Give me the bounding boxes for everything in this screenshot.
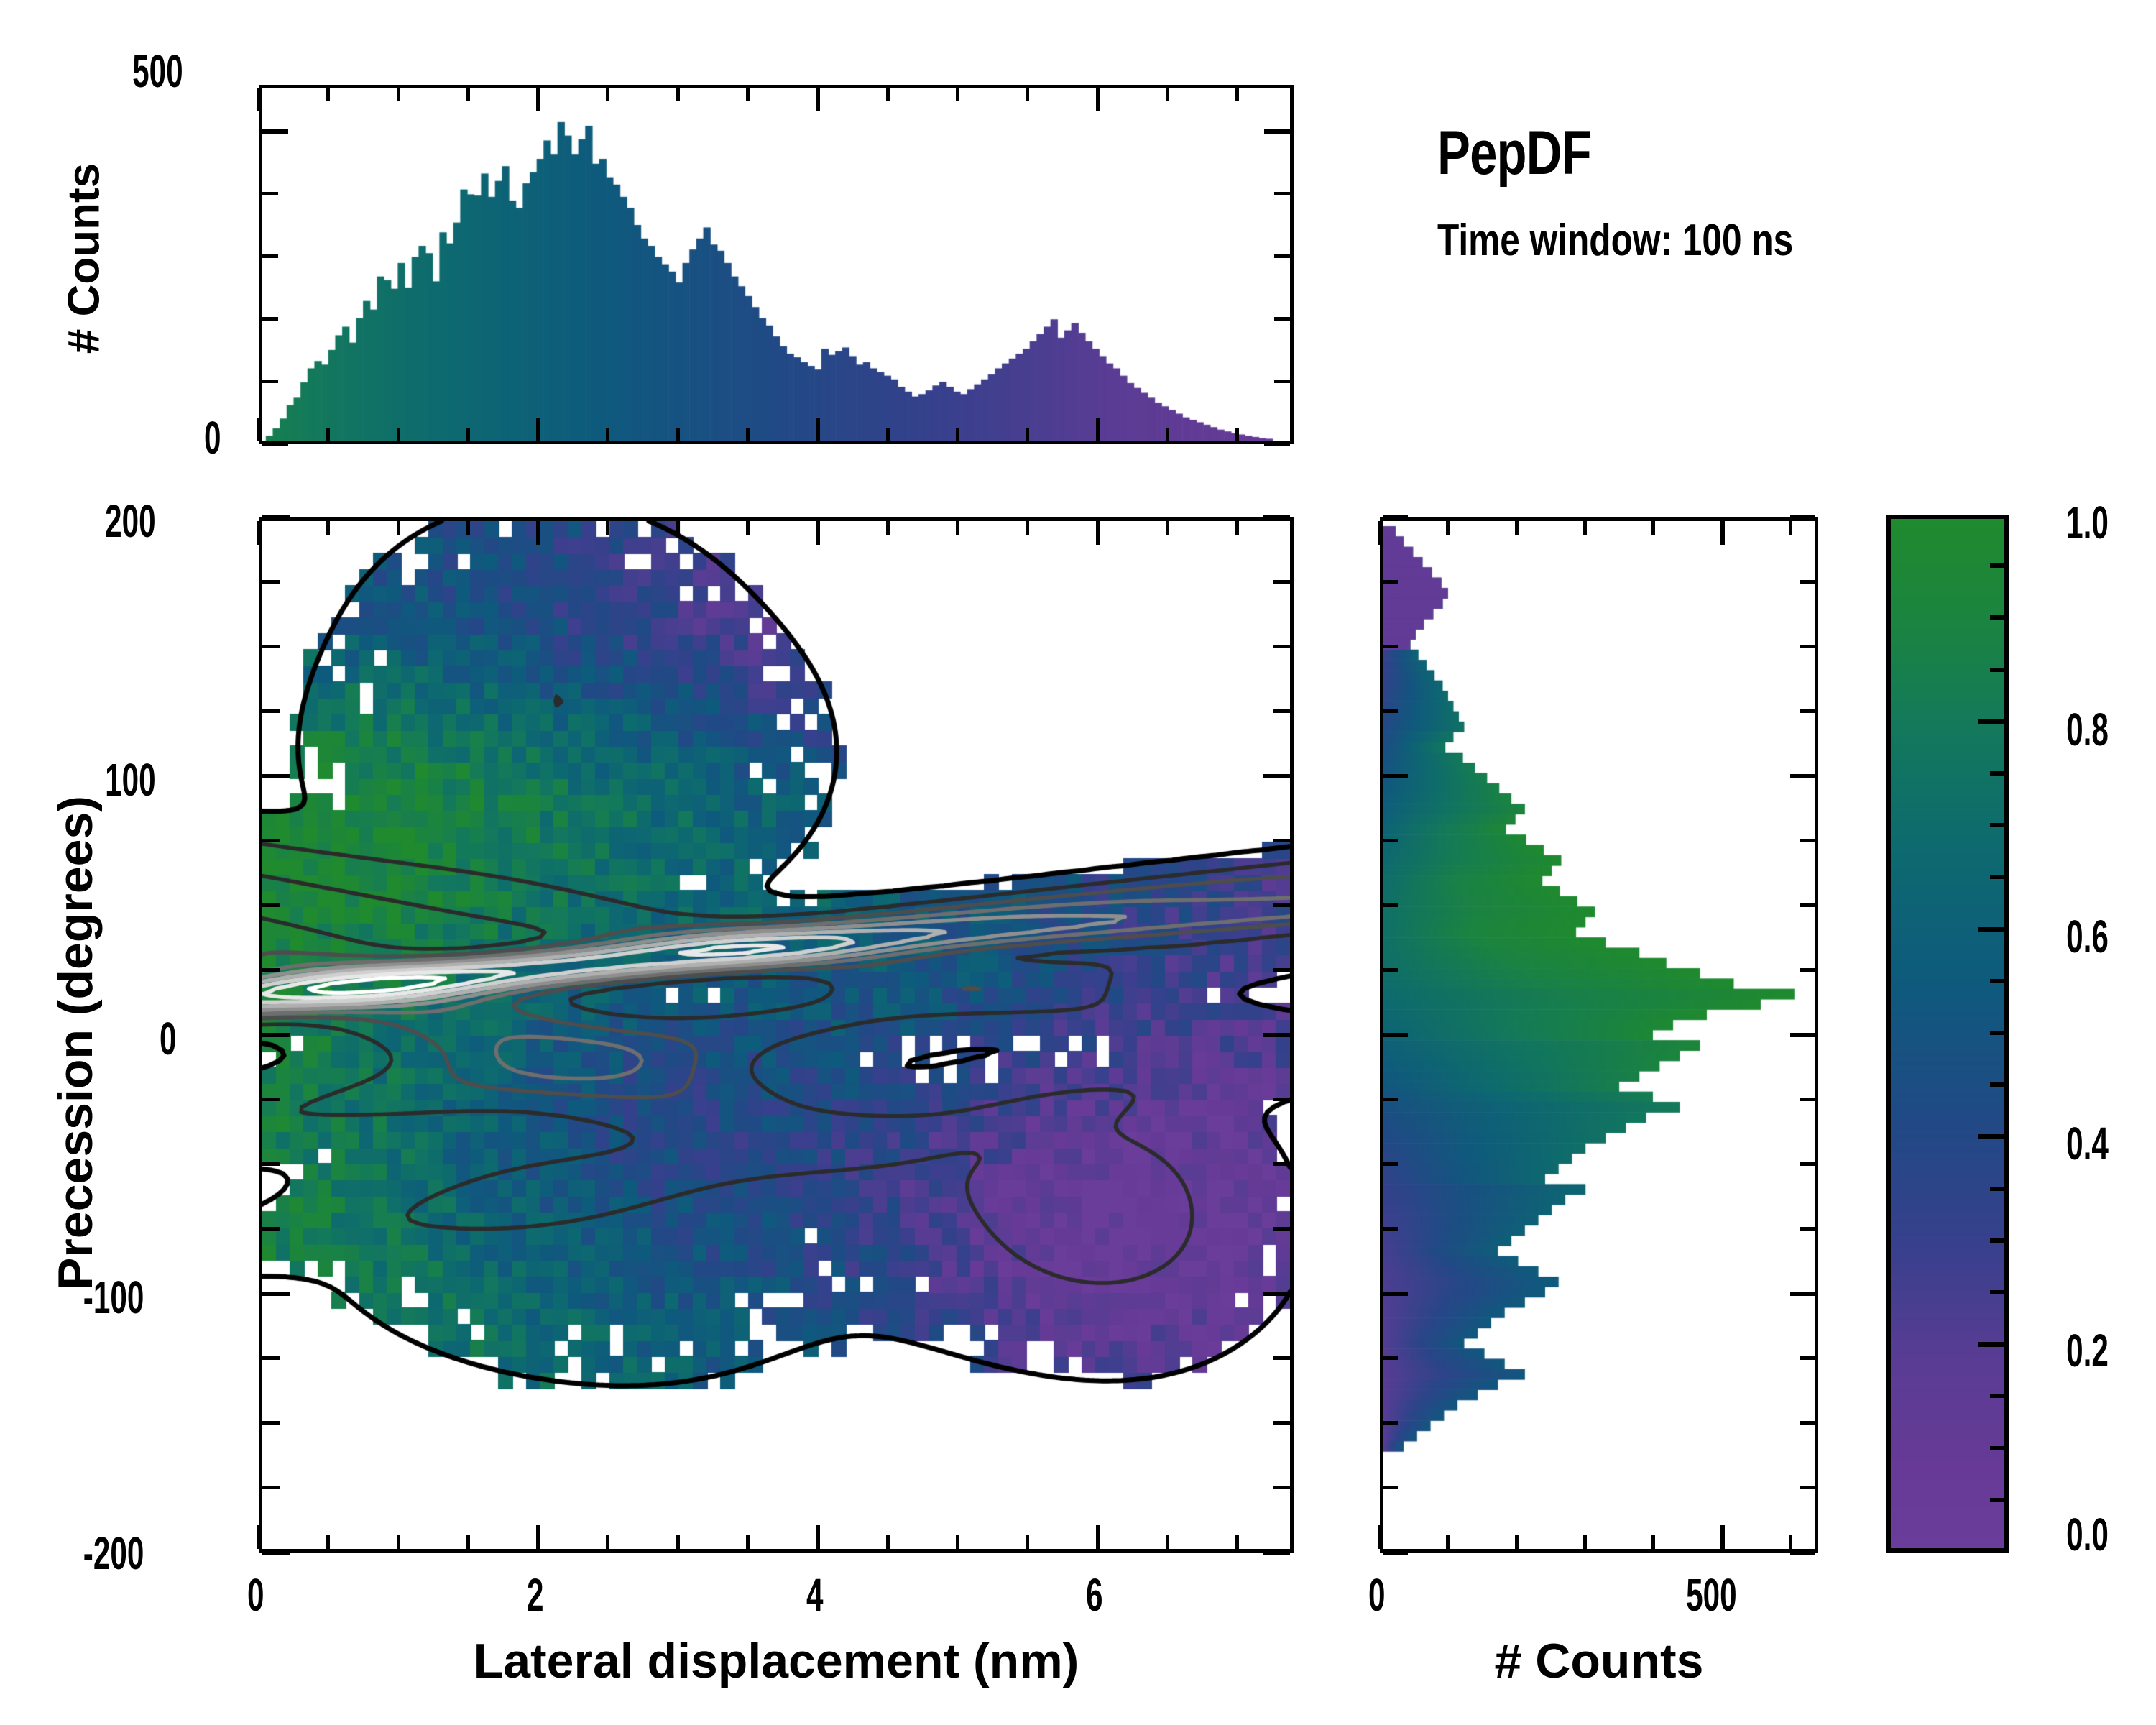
main-ytick-major-right	[1263, 515, 1290, 520]
top-yaxis-title: # Counts	[59, 90, 110, 428]
top-histogram-canvas	[262, 88, 1290, 441]
right-ytick-major	[1383, 515, 1408, 520]
main-ytick-minor-right	[1273, 1356, 1290, 1360]
right-ytick-minor	[1383, 1162, 1398, 1166]
colorbar-tick-minor	[1990, 875, 2009, 879]
main-ytick-minor-right	[1273, 1162, 1290, 1166]
main-ytick-minor	[262, 1486, 280, 1489]
top-panel-ytick-major-right	[1264, 442, 1290, 446]
main-ytick-major	[262, 515, 290, 520]
colorbar-tick-major	[1978, 1342, 2009, 1347]
right-ytick-minor	[1383, 839, 1398, 842]
colorbar-tick-minor	[1990, 1082, 2009, 1087]
xtick-label-0: 0	[247, 1568, 264, 1621]
colorbar-tick-minor	[1990, 1446, 2009, 1450]
top-panel-ytick-major	[262, 442, 288, 446]
colorbar-tick-minor	[1990, 563, 2009, 568]
main-ytick-major-right	[1263, 1550, 1290, 1555]
main-ytick-minor	[262, 1421, 280, 1425]
top-panel-xtick-minor-upper	[956, 88, 959, 101]
colorbar-tick-minor	[1990, 668, 2009, 672]
main-xtick-minor-top	[1235, 521, 1239, 535]
main-ytick-minor-right	[1273, 839, 1290, 842]
right-ytick-major	[1383, 1550, 1408, 1555]
main-ytick-minor-right	[1273, 1421, 1290, 1425]
right-xtick-major-top	[1378, 521, 1382, 545]
top-panel-xtick-minor	[466, 428, 470, 441]
right-histogram-canvas	[1383, 521, 1815, 1549]
main-xtick-minor	[606, 1535, 609, 1549]
right-ytick-minor-right	[1800, 1098, 1815, 1101]
top-panel-xtick-minor	[956, 428, 959, 441]
right-ytick-minor	[1383, 580, 1398, 584]
main-xtick-minor-top	[326, 521, 330, 535]
right-ytick-minor	[1383, 1421, 1398, 1425]
ytick-label-200: 200	[105, 494, 155, 548]
right-ytick-major-right	[1790, 774, 1815, 778]
right-ytick-minor-right	[1800, 709, 1815, 713]
cbar-label-0p4: 0.4	[2066, 1117, 2109, 1170]
right-ytick-minor	[1383, 903, 1398, 907]
main-ytick-minor-right	[1273, 968, 1290, 972]
colorbar-tick-minor	[1990, 979, 2009, 983]
main-xtick-major	[816, 1525, 820, 1549]
top-panel-xtick-minor	[746, 428, 750, 441]
top-panel-xtick-minor-upper	[466, 88, 470, 101]
right-ytick-minor-right	[1800, 903, 1815, 907]
right-xtick-minor	[1583, 1535, 1587, 1549]
top-panel-ytick-minor-right	[1274, 254, 1290, 258]
right-xtick-minor-top	[1583, 521, 1587, 535]
main-xtick-minor	[1026, 1535, 1029, 1549]
top-panel-xtick-minor-upper	[1026, 88, 1029, 101]
yaxis-title: Precession (degrees)	[47, 525, 103, 1560]
main-ytick-minor	[262, 903, 280, 907]
right-ytick-minor	[1383, 1227, 1398, 1230]
right-xtick-major	[1720, 1525, 1725, 1549]
main-xtick-minor-top	[466, 521, 470, 535]
top-panel-xtick-minor	[606, 428, 609, 441]
main-xtick-minor-top	[956, 521, 959, 535]
right-ytick-minor-right	[1800, 968, 1815, 972]
main-ytick-major	[262, 1292, 290, 1296]
right-marginal-histogram-panel	[1380, 517, 1818, 1552]
main-xtick-major	[1096, 1525, 1100, 1549]
figure-canvas: 500 0 # Counts PepDF Time window: 100 ns…	[0, 0, 2156, 1725]
top-panel-xtick-major	[1096, 418, 1100, 441]
top-panel-ytick-minor	[262, 379, 278, 383]
colorbar-tick-minor	[1990, 1290, 2009, 1294]
right-ytick-minor-right	[1800, 1227, 1815, 1230]
right-xtick-minor	[1446, 1535, 1450, 1549]
main-xtick-minor-top	[1026, 521, 1029, 535]
right-ytick-major	[1383, 1292, 1408, 1296]
right-ytick-minor-right	[1800, 1486, 1815, 1489]
top-panel-xtick-major	[816, 418, 820, 441]
top-panel-xtick-minor	[676, 428, 680, 441]
main-ytick-major-right	[1263, 1292, 1290, 1296]
top-ytick-label-0: 0	[204, 411, 221, 464]
right-ytick-minor-right	[1800, 839, 1815, 842]
top-panel-ytick-minor-right	[1274, 317, 1290, 321]
main-xtick-minor-top	[886, 521, 890, 535]
right-xtick-major-top	[1720, 521, 1725, 545]
main-ytick-minor-right	[1273, 709, 1290, 713]
right-xtick-label-500: 500	[1686, 1568, 1736, 1621]
main-xtick-major	[536, 1525, 540, 1549]
main-ytick-minor	[262, 1162, 280, 1166]
right-xtick-minor-top	[1515, 521, 1519, 535]
top-panel-xtick-minor-upper	[1235, 88, 1239, 101]
main-ytick-minor-right	[1273, 1227, 1290, 1230]
heatmap-contour-canvas	[262, 521, 1290, 1549]
main-xtick-minor-top	[606, 521, 609, 535]
right-ytick-major-right	[1790, 1550, 1815, 1555]
main-xtick-minor	[466, 1535, 470, 1549]
main-ytick-minor-right	[1273, 1486, 1290, 1489]
top-panel-xtick-minor	[1235, 428, 1239, 441]
main-ytick-major	[262, 1550, 290, 1555]
main-xtick-minor	[886, 1535, 890, 1549]
main-xtick-minor-top	[746, 521, 750, 535]
top-panel-xtick-minor-upper	[397, 88, 400, 101]
top-panel-xtick-minor	[326, 428, 330, 441]
main-ytick-minor	[262, 968, 280, 972]
right-ytick-major-right	[1790, 1033, 1815, 1037]
colorbar-tick-major	[1978, 1134, 2009, 1139]
figure-title: PepDF	[1437, 122, 1793, 184]
right-ytick-minor	[1383, 1356, 1398, 1360]
right-ytick-minor-right	[1800, 1162, 1815, 1166]
main-xtick-major-top	[816, 521, 820, 545]
figure-subtitle: Time window: 100 ns	[1437, 218, 1793, 263]
main-ytick-major	[262, 774, 290, 778]
right-ytick-minor-right	[1800, 580, 1815, 584]
top-panel-xtick-minor	[886, 428, 890, 441]
ytick-label-100: 100	[105, 753, 155, 806]
top-panel-xtick-major-upper	[816, 88, 820, 111]
right-ytick-minor	[1383, 1098, 1398, 1101]
top-panel-xtick-minor	[1166, 428, 1169, 441]
xtick-label-4: 4	[806, 1568, 823, 1621]
colorbar-tick-minor	[1990, 1238, 2009, 1243]
main-ytick-minor-right	[1273, 645, 1290, 648]
main-ytick-minor-right	[1273, 1098, 1290, 1101]
ytick-label-0: 0	[160, 1012, 176, 1065]
top-panel-ytick-minor-right	[1274, 379, 1290, 383]
top-ytick-label-500: 500	[132, 45, 183, 98]
colorbar-tick-minor	[1990, 823, 2009, 827]
right-xtick-major	[1378, 1525, 1382, 1549]
colorbar-tick-major	[1978, 719, 2009, 724]
right-xtick-minor-top	[1789, 521, 1792, 535]
top-panel-ytick-minor-right	[1274, 192, 1290, 195]
right-ytick-minor	[1383, 968, 1398, 972]
top-panel-ytick-minor	[262, 254, 278, 258]
main-ytick-minor	[262, 645, 280, 648]
main-xtick-minor-top	[1166, 521, 1169, 535]
right-ytick-minor-right	[1800, 645, 1815, 648]
top-panel-xtick-major-upper	[536, 88, 540, 111]
main-xtick-major-top	[257, 521, 261, 545]
top-panel-xtick-minor-upper	[886, 88, 890, 101]
right-xtick-minor	[1789, 1535, 1792, 1549]
main-ytick-minor	[262, 580, 280, 584]
main-xtick-major	[257, 1525, 261, 1549]
right-xtick-minor	[1651, 1535, 1655, 1549]
right-xtick-label-0: 0	[1368, 1568, 1385, 1621]
top-panel-xtick-minor-upper	[606, 88, 609, 101]
xtick-label-2: 2	[527, 1568, 543, 1621]
top-panel-xtick-minor	[1026, 428, 1029, 441]
main-ytick-minor	[262, 1098, 280, 1101]
main-ytick-minor	[262, 709, 280, 713]
top-panel-xtick-minor	[397, 428, 400, 441]
right-ytick-minor-right	[1800, 1356, 1815, 1360]
title-block: PepDF Time window: 100 ns	[1437, 122, 1882, 263]
main-xtick-minor-top	[397, 521, 400, 535]
colorbar-tick-minor	[1990, 1031, 2009, 1035]
main-ytick-minor	[262, 1356, 280, 1360]
top-panel-xtick-minor-upper	[326, 88, 330, 101]
right-ytick-minor	[1383, 709, 1398, 713]
cbar-label-0p2: 0.2	[2066, 1324, 2109, 1377]
right-ytick-minor	[1383, 1486, 1398, 1489]
right-ytick-major	[1383, 774, 1408, 778]
main-ytick-major-right	[1263, 1033, 1290, 1037]
top-panel-xtick-minor-upper	[676, 88, 680, 101]
top-panel-xtick-major	[257, 418, 261, 441]
right-ytick-minor	[1383, 645, 1398, 648]
main-xtick-minor	[1235, 1535, 1239, 1549]
main-xtick-major-top	[536, 521, 540, 545]
xaxis-title: Lateral displacement (nm)	[259, 1633, 1294, 1689]
colorbar-tick-minor	[1990, 771, 2009, 776]
top-panel-ytick-major-right	[1264, 129, 1290, 134]
main-ytick-minor-right	[1273, 580, 1290, 584]
main-xtick-minor	[746, 1535, 750, 1549]
right-ytick-major-right	[1790, 1292, 1815, 1296]
main-ytick-minor	[262, 839, 280, 842]
main-ytick-minor-right	[1273, 903, 1290, 907]
joint-heatmap-panel	[259, 517, 1294, 1552]
colorbar-tick-minor	[1990, 615, 2009, 620]
colorbar-tick-minor	[1990, 1394, 2009, 1398]
main-ytick-major-right	[1263, 774, 1290, 778]
top-marginal-histogram-panel	[259, 85, 1294, 444]
top-panel-xtick-major	[536, 418, 540, 441]
colorbar-gradient-canvas	[1891, 519, 2004, 1548]
right-xtick-minor-top	[1651, 521, 1655, 535]
xtick-label-6: 6	[1086, 1568, 1102, 1621]
right-ytick-major	[1383, 1033, 1408, 1037]
cbar-label-0p8: 0.8	[2066, 703, 2109, 756]
main-xtick-major-top	[1096, 521, 1100, 545]
top-panel-ytick-minor	[262, 317, 278, 321]
main-ytick-minor	[262, 1227, 280, 1230]
colorbar-tick-minor	[1990, 1187, 2009, 1191]
top-panel-ytick-major	[262, 129, 288, 134]
cbar-label-0p0: 0.0	[2066, 1508, 2109, 1561]
main-xtick-minor	[326, 1535, 330, 1549]
top-panel-xtick-major-upper	[1096, 88, 1100, 111]
top-panel-xtick-minor-upper	[746, 88, 750, 101]
right-xtick-minor-top	[1446, 521, 1450, 535]
main-xtick-minor	[1166, 1535, 1169, 1549]
main-xtick-minor	[397, 1535, 400, 1549]
colorbar-tick-major	[1978, 927, 2009, 932]
colorbar-tick-minor	[1990, 1498, 2009, 1502]
right-xtick-minor	[1515, 1535, 1519, 1549]
main-xtick-minor-top	[676, 521, 680, 535]
top-panel-xtick-major-upper	[257, 88, 261, 111]
top-panel-ytick-minor	[262, 192, 278, 195]
main-xtick-minor	[676, 1535, 680, 1549]
cbar-label-0p6: 0.6	[2066, 910, 2109, 963]
main-ytick-major	[262, 1033, 290, 1037]
right-ytick-major-right	[1790, 515, 1815, 520]
cbar-label-1p0: 1.0	[2066, 496, 2109, 549]
right-ytick-minor-right	[1800, 1421, 1815, 1425]
main-xtick-minor	[956, 1535, 959, 1549]
top-panel-xtick-minor-upper	[1166, 88, 1169, 101]
right-xaxis-title: # Counts	[1380, 1633, 1818, 1689]
